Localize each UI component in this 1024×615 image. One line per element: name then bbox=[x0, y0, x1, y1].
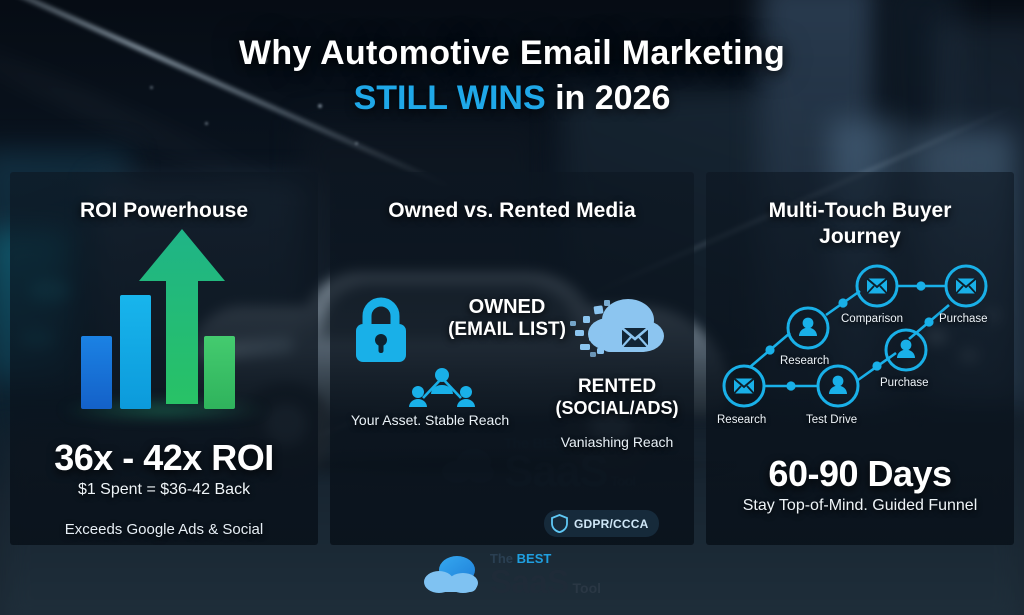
title-highlight: STILL WINS bbox=[354, 79, 546, 117]
rented-subtext: Vaniashing Reach bbox=[542, 434, 692, 450]
people-network-icon bbox=[405, 364, 479, 413]
journey-label-5: Purchase bbox=[939, 313, 988, 325]
panel-right-title-line1: Multi-Touch Buyer bbox=[706, 198, 1014, 224]
panel-right-title-line2: Journey bbox=[706, 224, 1014, 250]
roi-footline: Exceeds Google Ads & Social bbox=[10, 521, 318, 538]
owned-subtext: Your Asset. Stable Reach bbox=[330, 412, 530, 428]
panel-mid-title: Owned vs. Rented Media bbox=[330, 198, 694, 224]
infographic-stage: The BEST SaaS Tool Why Automotive Email … bbox=[0, 0, 1024, 615]
journey-label-0: Research bbox=[717, 414, 766, 426]
panel-owned-vs-rented: Owned vs. Rented Media OWNED (EMAIL LIST… bbox=[330, 172, 694, 545]
panel-right-title: Multi-Touch Buyer Journey bbox=[706, 198, 1014, 251]
rented-label-secondary: (SOCIAL/ADS) bbox=[542, 398, 692, 419]
roi-bar-chart bbox=[10, 234, 318, 409]
gdpr-badge: GDPR/CCCA bbox=[544, 510, 659, 537]
panel-roi-powerhouse: ROI Powerhouse 36x - bbox=[10, 172, 318, 545]
rented-label-group: RENTED (SOCIAL/ADS) bbox=[542, 376, 692, 419]
journey-headline: 60-90 Days bbox=[706, 453, 1014, 495]
buyer-journey-diagram: Research Test Drive Research Purchase Co… bbox=[706, 255, 1014, 445]
infographic-header: Why Automotive Email Marketing STILL WIN… bbox=[0, 34, 1024, 118]
panel-left-title: ROI Powerhouse bbox=[10, 198, 318, 224]
chart-bar-1 bbox=[81, 336, 112, 409]
rented-label-primary: RENTED bbox=[542, 376, 692, 398]
roi-headline: 36x - 42x ROI bbox=[10, 437, 318, 479]
title-year: in 2026 bbox=[546, 79, 671, 117]
title-line-2: STILL WINS in 2026 bbox=[0, 79, 1024, 118]
brand-main: SaaS bbox=[490, 563, 569, 600]
journey-label-3: Purchase bbox=[880, 377, 929, 389]
journey-label-4: Comparison bbox=[841, 313, 903, 325]
panel-buyer-journey: Multi-Touch Buyer Journey bbox=[706, 172, 1014, 545]
shield-icon bbox=[551, 514, 568, 533]
growth-arrow-icon bbox=[139, 229, 225, 409]
journey-label-2: Research bbox=[780, 355, 829, 367]
lock-icon bbox=[352, 296, 410, 367]
brand-logo: The BEST SaaS Tool bbox=[0, 552, 1024, 598]
title-line-1: Why Automotive Email Marketing bbox=[0, 34, 1024, 73]
brand-tool: Tool bbox=[569, 580, 601, 596]
dissolving-cloud-email-icon bbox=[570, 290, 666, 373]
cloud-icon bbox=[423, 554, 481, 596]
roi-subline: $1 Spent = $36-42 Back bbox=[10, 481, 318, 499]
journey-subline: Stay Top-of-Mind. Guided Funnel bbox=[706, 497, 1014, 515]
gdpr-badge-label: GDPR/CCCA bbox=[574, 517, 648, 531]
journey-label-1: Test Drive bbox=[806, 414, 857, 426]
